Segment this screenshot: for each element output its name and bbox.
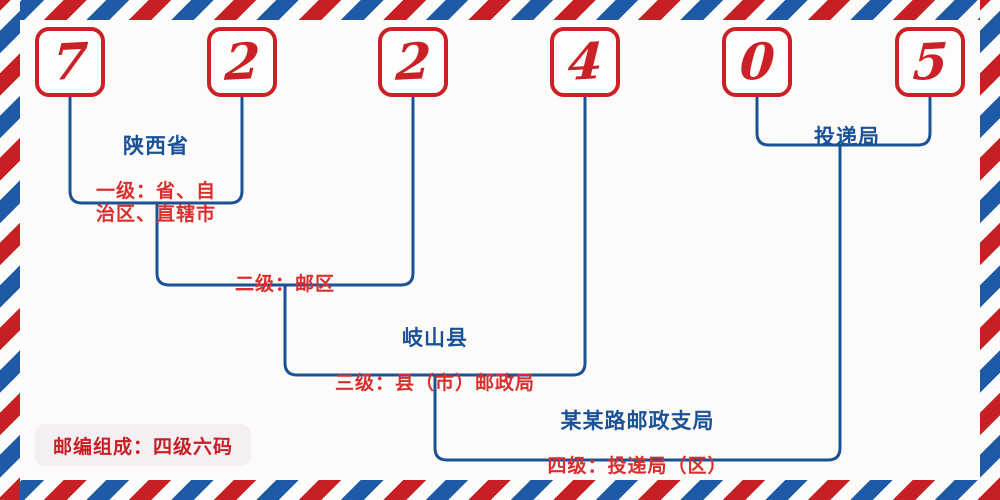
postcode-digit-2[interactable]: 2 <box>207 27 277 97</box>
postcode-digit-1[interactable]: 7 <box>35 27 105 97</box>
label-level-1-name: 陕西省 <box>62 133 250 159</box>
label-level-2-level: 二级：邮区 <box>175 273 395 296</box>
postcode-digit-4[interactable]: 4 <box>550 27 620 97</box>
digit-glyph: 0 <box>738 36 776 88</box>
postcode-composition-badge-text: 邮编组成：四级六码 <box>53 432 233 459</box>
airmail-border-right <box>980 0 1000 500</box>
label-delivery-office-name: 投递局 <box>772 124 922 150</box>
envelope-postcode-diagram: 7 2 2 4 0 5 陕西省 一级：省、自 治区、直辖市 二级：邮区 岐山县 … <box>0 0 1000 500</box>
postcode-composition-badge: 邮编组成：四级六码 <box>35 424 251 466</box>
digit-glyph: 5 <box>911 36 949 88</box>
label-level-4-name: 某某路邮政支局 <box>450 408 825 434</box>
label-level-4-level: 四级：投递局（区） <box>450 455 825 478</box>
digit-glyph: 4 <box>566 36 604 88</box>
airmail-border-top <box>0 0 1000 20</box>
label-delivery-office: 投递局 <box>772 104 922 169</box>
postcode-digit-6[interactable]: 5 <box>895 27 965 97</box>
airmail-border-bottom <box>0 480 1000 500</box>
label-level-1-level: 一级：省、自 治区、直辖市 <box>62 180 250 226</box>
postcode-digit-5[interactable]: 0 <box>722 27 792 97</box>
label-level-3-name: 岐山县 <box>300 325 570 351</box>
label-level-1: 陕西省 一级：省、自 治区、直辖市 <box>62 113 250 246</box>
digit-glyph: 2 <box>223 36 261 88</box>
digit-glyph: 2 <box>394 36 432 88</box>
postcode-digit-3[interactable]: 2 <box>378 27 448 97</box>
airmail-border-left <box>0 0 20 500</box>
digit-glyph: 7 <box>51 36 89 88</box>
